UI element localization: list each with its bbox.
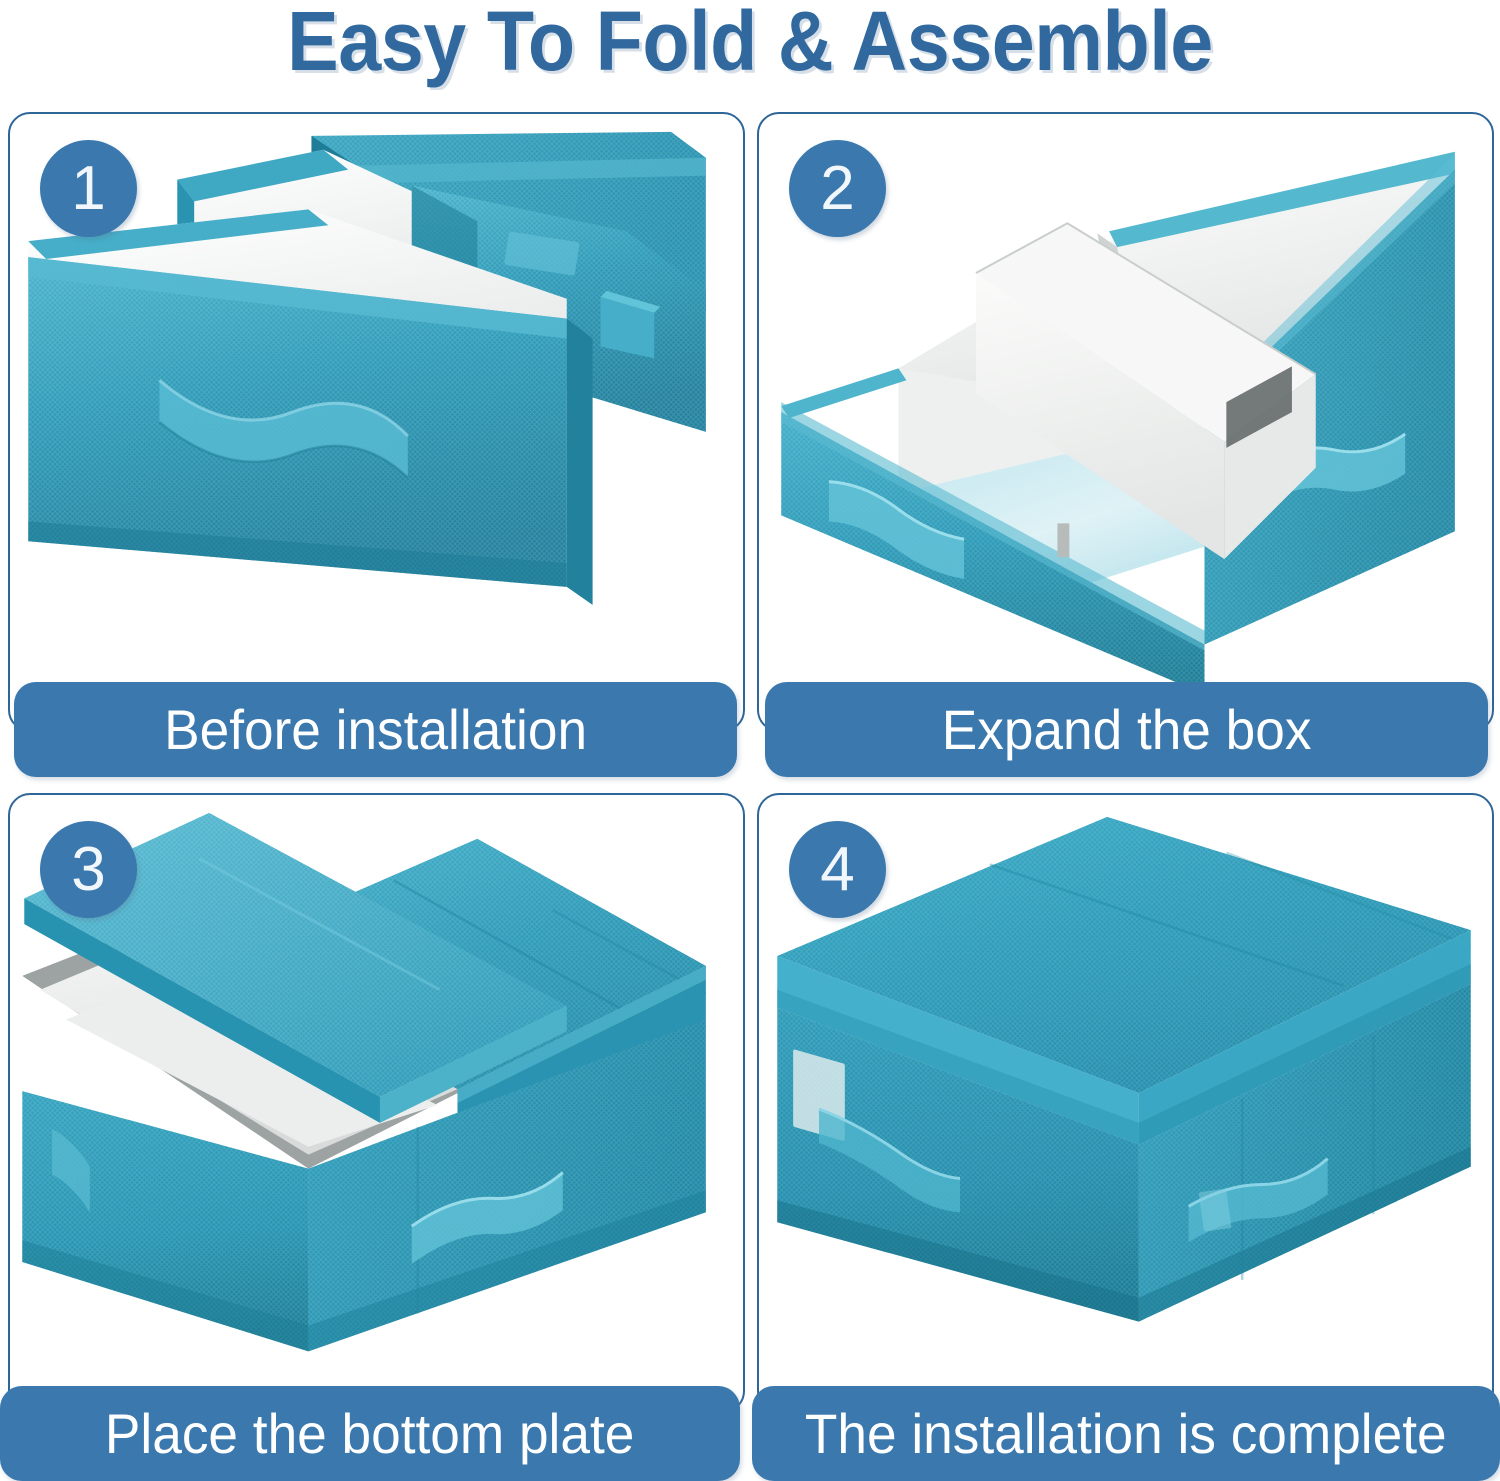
step-caption-4: The installation is complete <box>752 1386 1500 1481</box>
step-badge-3: 3 <box>40 821 137 918</box>
step-panel-1: 1 <box>8 112 745 732</box>
step-caption-2-label: Expand the box <box>942 700 1312 760</box>
step-caption-4-label: The installation is complete <box>805 1404 1447 1464</box>
step-panel-4: 4 <box>757 793 1494 1413</box>
step-caption-1: Before installation <box>14 682 737 777</box>
step-caption-3-label: Place the bottom plate <box>105 1404 634 1464</box>
step-caption-3: Place the bottom plate <box>0 1386 740 1481</box>
step-badge-2: 2 <box>789 140 886 237</box>
step-caption-2: Expand the box <box>765 682 1488 777</box>
step-caption-1-label: Before installation <box>164 700 587 760</box>
step-panel-3: 3 <box>8 793 745 1413</box>
step-badge-4: 4 <box>789 821 886 918</box>
page-title: Easy To Fold & Assemble <box>60 0 1440 90</box>
step-badge-1: 1 <box>40 140 137 237</box>
step-panel-2: 2 <box>757 112 1494 732</box>
